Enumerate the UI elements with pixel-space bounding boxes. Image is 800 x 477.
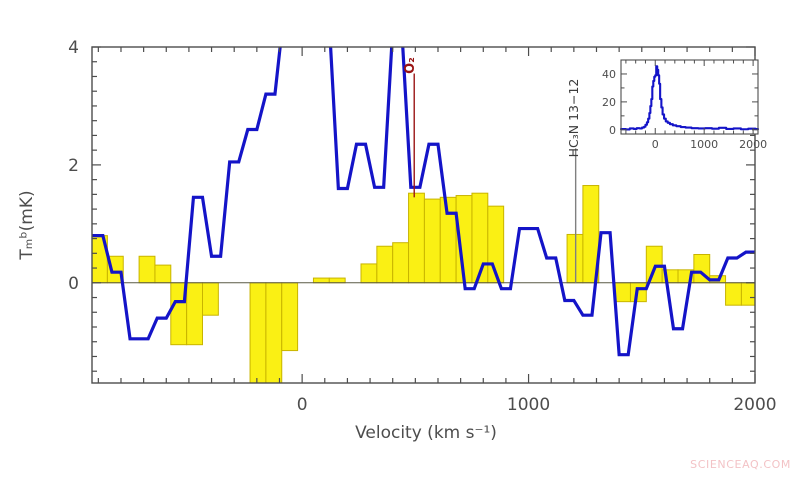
histogram-bar (726, 283, 742, 305)
histogram-bar (377, 246, 393, 283)
inset-x-tick-label: 0 (652, 138, 659, 151)
inset-y-tick-label: 20 (602, 96, 616, 109)
inset-species-label: HC₃N 13−12 (566, 79, 581, 158)
histogram-bar (250, 283, 266, 383)
x-axis-title: Velocity (km s⁻¹) (355, 423, 497, 443)
histogram-bar (266, 283, 282, 383)
histogram-bar (741, 283, 755, 305)
histogram-bar (424, 199, 440, 283)
site-watermark: SCIENCEAQ.COM (690, 458, 791, 471)
inset-x-tick-label: 1000 (690, 138, 718, 151)
y-tick-label: 0 (68, 274, 79, 294)
svg-text:Tₘᵇ(mK): Tₘᵇ(mK) (17, 190, 37, 260)
x-tick-label: 1000 (507, 395, 550, 415)
inset-y-tick-label: 0 (609, 124, 616, 137)
histogram-bar (630, 283, 646, 302)
species-annotation-label: O₂ (403, 57, 418, 74)
inset-x-tick-label: 2000 (739, 138, 767, 151)
y-axis-title: Tₘᵇ(mK) (17, 190, 37, 260)
histogram-bar (615, 283, 631, 302)
histogram-bar (139, 256, 155, 283)
x-tick-label: 2000 (733, 395, 776, 415)
histogram-bar (203, 283, 219, 315)
y-tick-label: 2 (68, 156, 79, 176)
histogram-bar (155, 265, 171, 283)
inset-y-tick-label: 40 (602, 68, 616, 81)
histogram-bar (187, 283, 203, 345)
histogram-bar (646, 246, 662, 283)
histogram-bar (361, 264, 377, 283)
x-tick-label: 0 (297, 395, 308, 415)
spectrum-chart-svg: 010002000024 O₂ Velocity (km s⁻¹) Tₘᵇ(mK… (0, 0, 800, 477)
histogram-bar (313, 278, 329, 283)
histogram-bar (329, 278, 345, 283)
histogram-bar (409, 193, 425, 283)
histogram-bar (393, 243, 409, 283)
inset-background (621, 60, 758, 134)
histogram-bar (282, 283, 298, 351)
y-tick-label: 4 (68, 38, 79, 58)
